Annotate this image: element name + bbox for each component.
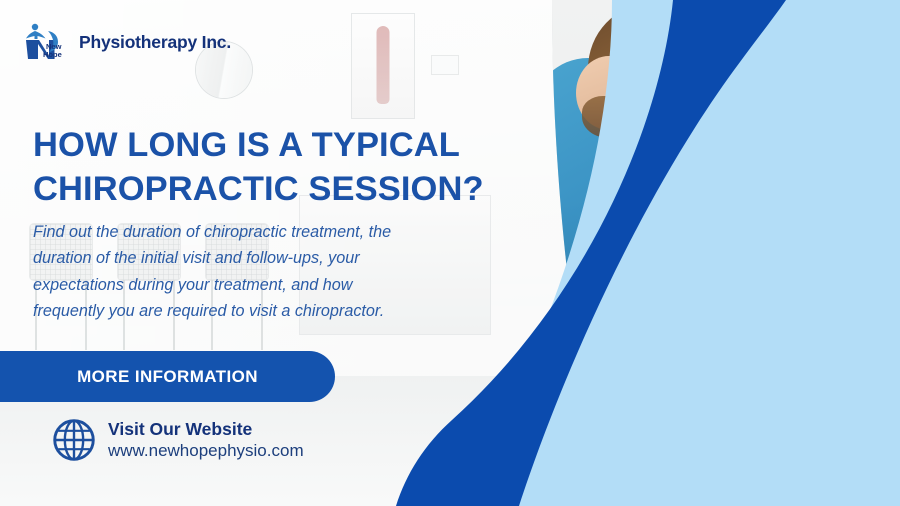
headline-line-1: HOW LONG IS A TYPICAL [33,126,460,164]
background-wall-chart [432,56,458,74]
more-information-button[interactable]: MORE INFORMATION [0,351,335,402]
company-name: Physiotherapy Inc. [79,32,231,53]
new-hope-person-logo-icon: New Hope [18,22,72,62]
headline-line-2: CHIROPRACTIC SESSION? [33,170,484,208]
globe-icon [52,418,96,462]
website-link[interactable]: Visit Our Website www.newhopephysio.com [52,418,304,462]
page-title: HOW LONG IS A TYPICAL CHIROPRACTIC SESSI… [33,123,493,211]
website-text-block: Visit Our Website www.newhopephysio.com [108,418,304,462]
svg-text:Hope: Hope [43,50,62,59]
brand-logo: New Hope Physiotherapy Inc. [18,22,231,62]
background-anatomy-poster [352,14,414,118]
photo-therapist-beard [582,96,636,138]
description-text: Find out the duration of chiropractic tr… [33,219,423,324]
website-label: Visit Our Website [108,418,304,440]
promotional-banner: New Hope Physiotherapy Inc. HOW LONG IS … [0,0,900,506]
website-url[interactable]: www.newhopephysio.com [108,440,304,462]
